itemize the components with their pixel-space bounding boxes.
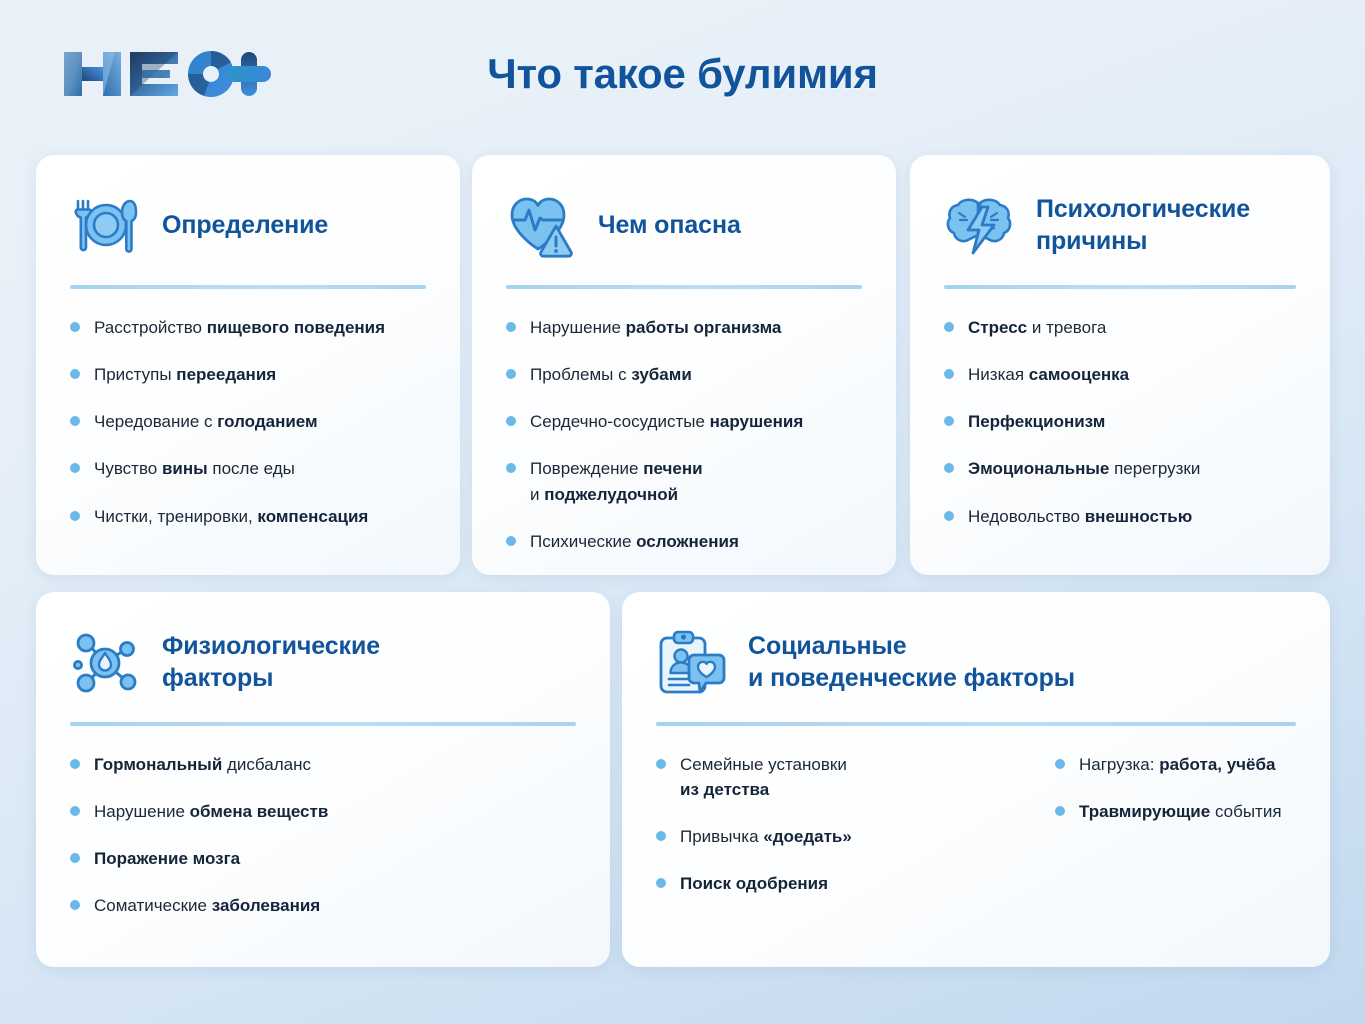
list-item: Стресс и тревога	[944, 315, 1296, 340]
card-divider	[944, 285, 1296, 289]
list-item: Повреждение печении поджелудочной	[506, 456, 862, 506]
brain-lightning-icon	[944, 190, 1016, 262]
bullet-list-left: Семейные установкииз детстваПривычка «до…	[656, 752, 1011, 897]
list-item-text: Нарушение обмена веществ	[94, 799, 328, 824]
card-definition: Определение Расстройство пищевого поведе…	[36, 155, 460, 575]
card-title: Психологическиепричины	[1036, 194, 1250, 258]
bullet-dot-icon	[70, 806, 80, 816]
list-item-text: Проблемы с зубами	[530, 362, 692, 387]
bullet-dot-icon	[944, 511, 954, 521]
card-divider	[656, 722, 1296, 726]
list-item: Травмирующие события	[1055, 799, 1296, 824]
list-item-text: Поражение мозга	[94, 846, 240, 871]
list-item: Перфекционизм	[944, 409, 1296, 434]
list-item: Нагрузка: работа, учёба	[1055, 752, 1296, 777]
list-item: Расстройство пищевого поведения	[70, 315, 426, 340]
list-item-text: Чистки, тренировки, компенсация	[94, 504, 368, 529]
card-header: Чем опасна	[506, 185, 862, 267]
list-item: Приступы переедания	[70, 362, 426, 387]
card-danger: Чем опасна Нарушение работы организмаПро…	[472, 155, 896, 575]
list-item-text: Эмоциональные перегрузки	[968, 456, 1200, 481]
clipboard-person-heart-icon	[656, 627, 728, 699]
bullet-dot-icon	[944, 416, 954, 426]
bullet-list: Гормональный дисбалансНарушение обмена в…	[70, 752, 576, 919]
bullet-dot-icon	[944, 322, 954, 332]
bullet-dot-icon	[1055, 759, 1065, 769]
list-item-text: Повреждение печении поджелудочной	[530, 456, 703, 506]
list-item-text: Приступы переедания	[94, 362, 276, 387]
card-divider	[70, 722, 576, 726]
card-psych: Психологическиепричины Стресс и тревогаН…	[910, 155, 1330, 575]
list-item-text: Травмирующие события	[1079, 799, 1282, 824]
card-header: Социальныеи поведенческие факторы	[656, 622, 1296, 704]
bullet-dot-icon	[506, 463, 516, 473]
bullet-dot-icon	[506, 536, 516, 546]
page-header: Что такое булимия	[0, 0, 1365, 140]
bullet-dot-icon	[70, 369, 80, 379]
card-divider	[506, 285, 862, 289]
list-item-text: Стресс и тревога	[968, 315, 1106, 340]
list-item: Проблемы с зубами	[506, 362, 862, 387]
list-item-text: Низкая самооценка	[968, 362, 1129, 387]
card-header: Психологическиепричины	[944, 185, 1296, 267]
list-item: Психические осложнения	[506, 529, 862, 554]
bullet-dot-icon	[70, 322, 80, 332]
bullet-dot-icon	[656, 759, 666, 769]
card-title: Социальныеи поведенческие факторы	[748, 631, 1075, 695]
molecule-hormone-icon	[70, 627, 142, 699]
list-item-text: Нагрузка: работа, учёба	[1079, 752, 1275, 777]
list-item: Сердечно-сосудистые нарушения	[506, 409, 862, 434]
bullet-dot-icon	[656, 831, 666, 841]
card-divider	[70, 285, 426, 289]
plate-cutlery-icon	[70, 190, 142, 262]
bullet-dot-icon	[506, 322, 516, 332]
bullet-dot-icon	[70, 416, 80, 426]
list-item: Недовольство внешностью	[944, 504, 1296, 529]
list-item-text: Чередование с голоданием	[94, 409, 318, 434]
list-item: Соматические заболевания	[70, 893, 576, 918]
list-item-text: Расстройство пищевого поведения	[94, 315, 385, 340]
bullet-dot-icon	[70, 463, 80, 473]
bullet-dot-icon	[506, 416, 516, 426]
bullet-list: Расстройство пищевого поведенияПриступы …	[70, 315, 426, 529]
list-item-text: Соматические заболевания	[94, 893, 320, 918]
list-item-text: Гормональный дисбаланс	[94, 752, 311, 777]
list-item: Гормональный дисбаланс	[70, 752, 576, 777]
card-title: Чем опасна	[598, 210, 741, 242]
card-social: Социальныеи поведенческие факторы Семейн…	[622, 592, 1330, 967]
list-item: Привычка «доедать»	[656, 824, 1011, 849]
bullet-list-right: Нагрузка: работа, учёбаТравмирующие собы…	[1055, 752, 1296, 897]
list-item-text: Сердечно-сосудистые нарушения	[530, 409, 803, 434]
list-item-text: Недовольство внешностью	[968, 504, 1192, 529]
bullet-dot-icon	[70, 900, 80, 910]
list-item-text: Семейные установкииз детства	[680, 752, 847, 802]
bullet-list: Стресс и тревогаНизкая самооценкаПерфекц…	[944, 315, 1296, 529]
list-item: Поражение мозга	[70, 846, 576, 871]
bullet-dot-icon	[70, 853, 80, 863]
bullet-columns: Семейные установкииз детстваПривычка «до…	[656, 752, 1296, 897]
list-item-text: Чувство вины после еды	[94, 456, 295, 481]
list-item: Нарушение работы организма	[506, 315, 862, 340]
list-item: Чувство вины после еды	[70, 456, 426, 481]
list-item-text: Психические осложнения	[530, 529, 739, 554]
bullet-dot-icon	[656, 878, 666, 888]
bullet-dot-icon	[70, 759, 80, 769]
card-header: Определение	[70, 185, 426, 267]
card-header: Физиологическиефакторы	[70, 622, 576, 704]
list-item: Поиск одобрения	[656, 871, 1011, 896]
card-physio: Физиологическиефакторы Гормональный дисб…	[36, 592, 610, 967]
bullet-dot-icon	[70, 511, 80, 521]
list-item: Нарушение обмена веществ	[70, 799, 576, 824]
list-item: Чередование с голоданием	[70, 409, 426, 434]
card-title: Определение	[162, 210, 328, 242]
list-item: Чистки, тренировки, компенсация	[70, 504, 426, 529]
list-item: Семейные установкииз детства	[656, 752, 1011, 802]
page-title: Что такое булимия	[0, 50, 1365, 98]
heart-pulse-warning-icon	[506, 190, 578, 262]
list-item-text: Нарушение работы организма	[530, 315, 781, 340]
bullet-dot-icon	[944, 463, 954, 473]
bullet-dot-icon	[1055, 806, 1065, 816]
bullet-dot-icon	[506, 369, 516, 379]
list-item: Низкая самооценка	[944, 362, 1296, 387]
list-item-text: Перфекционизм	[968, 409, 1105, 434]
card-title: Физиологическиефакторы	[162, 631, 380, 695]
list-item-text: Поиск одобрения	[680, 871, 828, 896]
bullet-list: Нарушение работы организмаПроблемы с зуб…	[506, 315, 862, 554]
list-item: Эмоциональные перегрузки	[944, 456, 1296, 481]
list-item-text: Привычка «доедать»	[680, 824, 852, 849]
bullet-dot-icon	[944, 369, 954, 379]
